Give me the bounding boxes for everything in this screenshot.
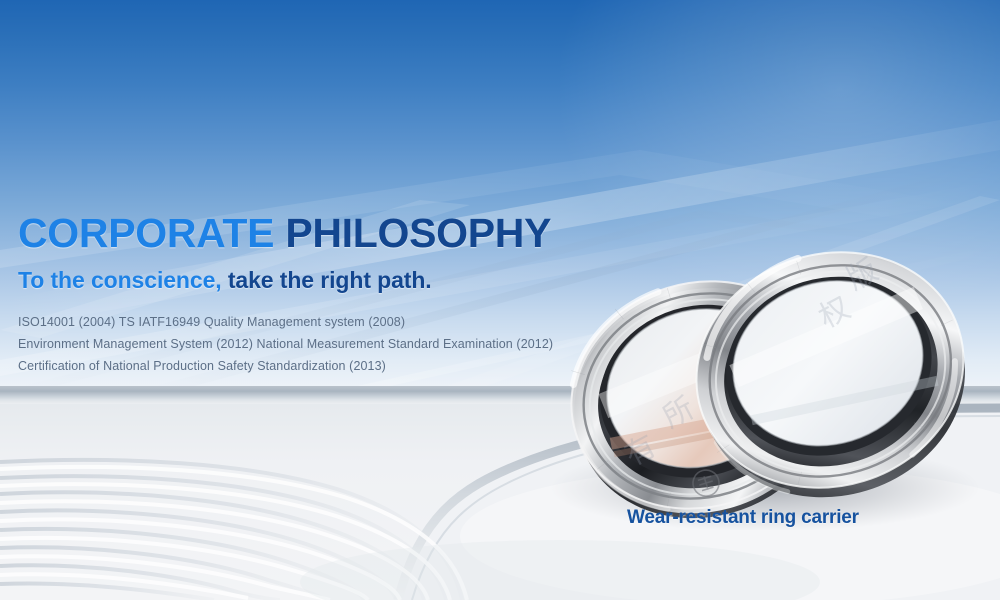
certification-line-1: ISO14001 (2004) TS IATF16949 Quality Man… <box>18 311 638 333</box>
headline-primary: CORPORATE <box>18 210 274 256</box>
subtitle: To the conscience, take the right path. <box>18 267 638 294</box>
headline-copy-block: CORPORATE PHILOSOPHY To the conscience, … <box>18 212 638 377</box>
certification-line-3: Certification of National Production Saf… <box>18 355 638 377</box>
subtitle-secondary: take the right path. <box>228 267 432 293</box>
certification-list: ISO14001 (2004) TS IATF16949 Quality Man… <box>18 311 638 377</box>
product-caption: Wear-resistant ring carrier <box>627 507 859 529</box>
subtitle-primary: To the conscience, <box>18 267 222 293</box>
headline-secondary: PHILOSOPHY <box>285 210 551 256</box>
corporate-philosophy-banner: 版 权 所 有 CORPORATE PHILOSOPHY To the cons… <box>0 0 1000 600</box>
certification-line-2: Environment Management System (2012) Nat… <box>18 333 638 355</box>
page-title: CORPORATE PHILOSOPHY <box>18 212 638 255</box>
